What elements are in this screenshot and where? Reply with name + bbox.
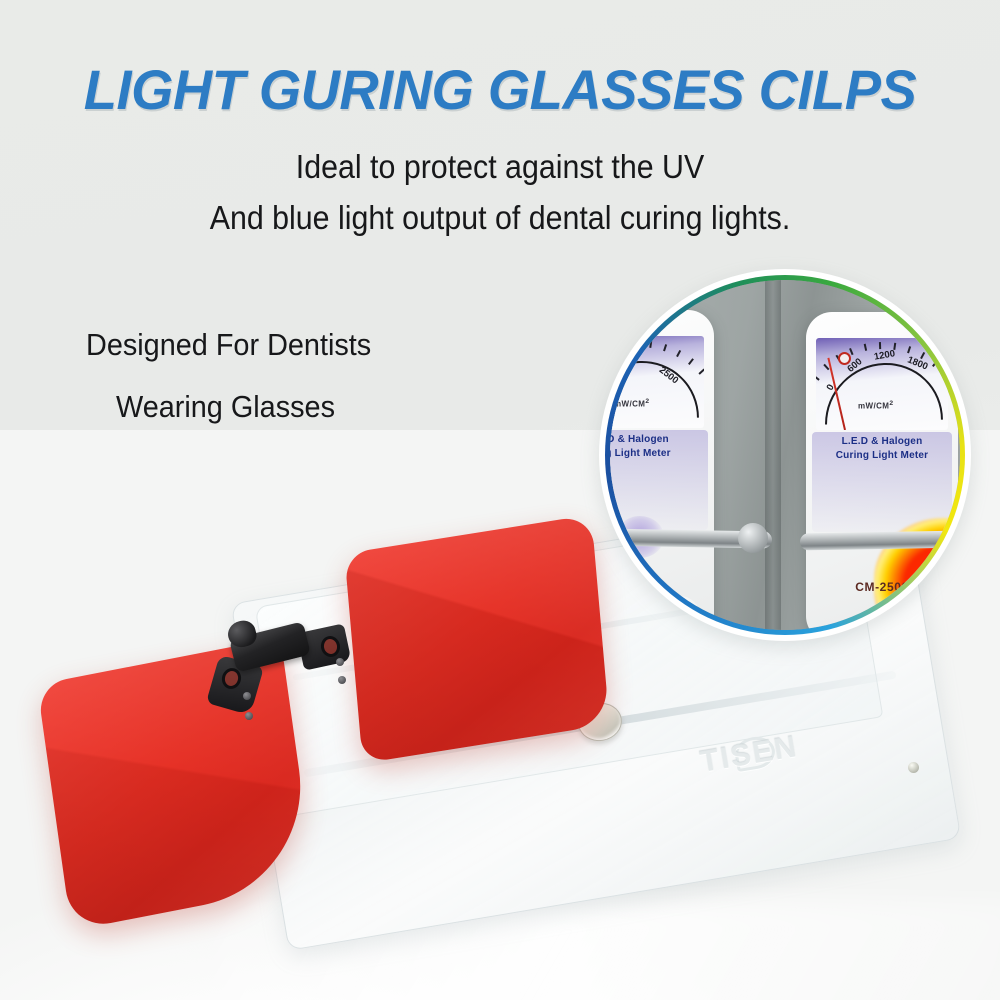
clip-screw-3 xyxy=(243,692,251,700)
gauge-left: 1800 2500 mW/CM2 xyxy=(610,336,704,428)
meter-right-panel xyxy=(812,432,952,532)
gauge-right: 0 600 1200 1800 mW/CM2 xyxy=(816,338,948,430)
clip-screw-1 xyxy=(336,658,344,666)
clip-screw-4 xyxy=(245,712,253,720)
meter-right-model: CM-2500 xyxy=(806,580,958,594)
curing-light-probe-tip xyxy=(738,523,768,553)
gauge-right-needle-pivot xyxy=(838,352,851,365)
meter-left-model: 500 xyxy=(610,578,714,592)
lens-right-facet xyxy=(344,515,609,764)
meter-left-brand-line1: D & Halogen xyxy=(610,434,714,445)
light-meter-left: 1800 2500 mW/CM2 D & Halogen g Light Met… xyxy=(610,310,714,630)
subheading-line-1: Ideal to protect against the UV xyxy=(40,148,960,186)
light-meter-right: 0 600 1200 1800 mW/CM2 L.E.D & Halogen C… xyxy=(806,312,958,630)
tagline-line-2: Wearing Glasses xyxy=(116,389,335,425)
case-rivet xyxy=(908,762,919,773)
product-banner: TISEN xyxy=(0,0,1000,1000)
inset-wall-seam xyxy=(765,280,781,630)
meter-left-panel xyxy=(610,430,708,530)
meter-left-brand-line2: g Light Meter xyxy=(610,448,714,459)
curing-light-probe-right xyxy=(800,531,960,551)
meter-right-brand-line1: L.E.D & Halogen xyxy=(806,436,958,447)
gauge-left-unit: mW/CM2 xyxy=(614,398,649,409)
meter-left-foot xyxy=(610,596,700,630)
gauge-right-unit: mW/CM2 xyxy=(858,400,893,411)
subheading-line-2: And blue light output of dental curing l… xyxy=(40,199,960,237)
clip-screw-2 xyxy=(338,676,346,684)
gauge-left-ticks xyxy=(610,336,704,428)
tagline-line-1: Designed For Dentists xyxy=(86,327,371,363)
meter-right-brand-line2: Curing Light Meter xyxy=(806,450,958,461)
inset-photo: 1800 2500 mW/CM2 D & Halogen g Light Met… xyxy=(610,280,960,630)
lens-right xyxy=(344,515,609,764)
page-title: LIGHT GURING GLASSES CILPS xyxy=(15,57,985,122)
curing-light-meter-inset: 1800 2500 mW/CM2 D & Halogen g Light Met… xyxy=(605,275,965,635)
